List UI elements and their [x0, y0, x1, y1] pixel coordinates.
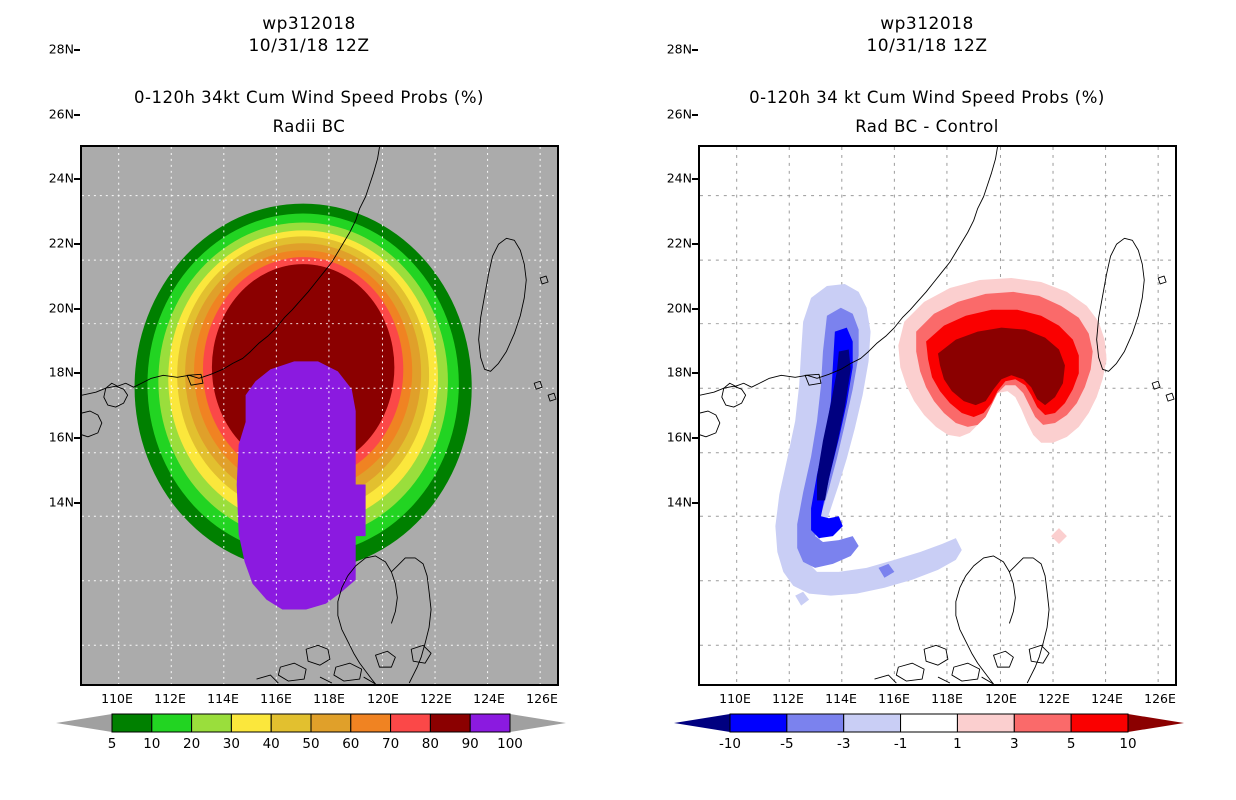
ytick [74, 49, 80, 51]
panel-right: wp312018 10/31/18 12Z 0-120h 34 kt Cum W… [618, 0, 1236, 800]
ytick [692, 437, 698, 439]
panel-right-storm-id: wp312018 [618, 14, 1236, 34]
panel-left-datetime: 10/31/18 12Z [0, 36, 618, 56]
colorbar-right: -10 -5 -3 -1 1 3 5 10 [674, 712, 1184, 772]
coastlines-left [82, 147, 557, 684]
figure-root: wp312018 10/31/18 12Z 0-120h 34kt Cum Wi… [0, 0, 1236, 800]
ytick [692, 49, 698, 51]
coastlines-right [700, 147, 1175, 684]
ytick [74, 178, 80, 180]
panel-left-storm-id: wp312018 [0, 14, 618, 34]
colorbar-right-labels: -10 -5 -3 -1 1 3 5 10 [674, 736, 1184, 756]
ytick [692, 502, 698, 504]
colorbar-left-labels: 5 10 20 30 40 50 60 70 80 90 100 [56, 736, 566, 756]
ytick [74, 308, 80, 310]
ytick [692, 243, 698, 245]
panel-right-title: 0-120h 34 kt Cum Wind Speed Probs (%) [618, 88, 1236, 107]
ytick [692, 372, 698, 374]
panel-left: wp312018 10/31/18 12Z 0-120h 34kt Cum Wi… [0, 0, 618, 800]
panel-left-title: 0-120h 34kt Cum Wind Speed Probs (%) [0, 88, 618, 107]
colorbar-right-swatches [674, 712, 1184, 734]
ytick [692, 178, 698, 180]
ytick [692, 114, 698, 116]
panel-left-subtitle: Radii BC [0, 117, 618, 136]
ytick [74, 372, 80, 374]
ytick [74, 243, 80, 245]
map-right [698, 145, 1177, 686]
panel-right-subtitle: Rad BC - Control [618, 117, 1236, 136]
map-left [80, 145, 559, 686]
ytick [74, 114, 80, 116]
panel-right-datetime: 10/31/18 12Z [618, 36, 1236, 56]
colorbar-left: 5 10 20 30 40 50 60 70 80 90 100 [56, 712, 566, 772]
ytick [74, 502, 80, 504]
ytick [74, 437, 80, 439]
ytick [692, 308, 698, 310]
colorbar-left-swatches [56, 712, 566, 734]
